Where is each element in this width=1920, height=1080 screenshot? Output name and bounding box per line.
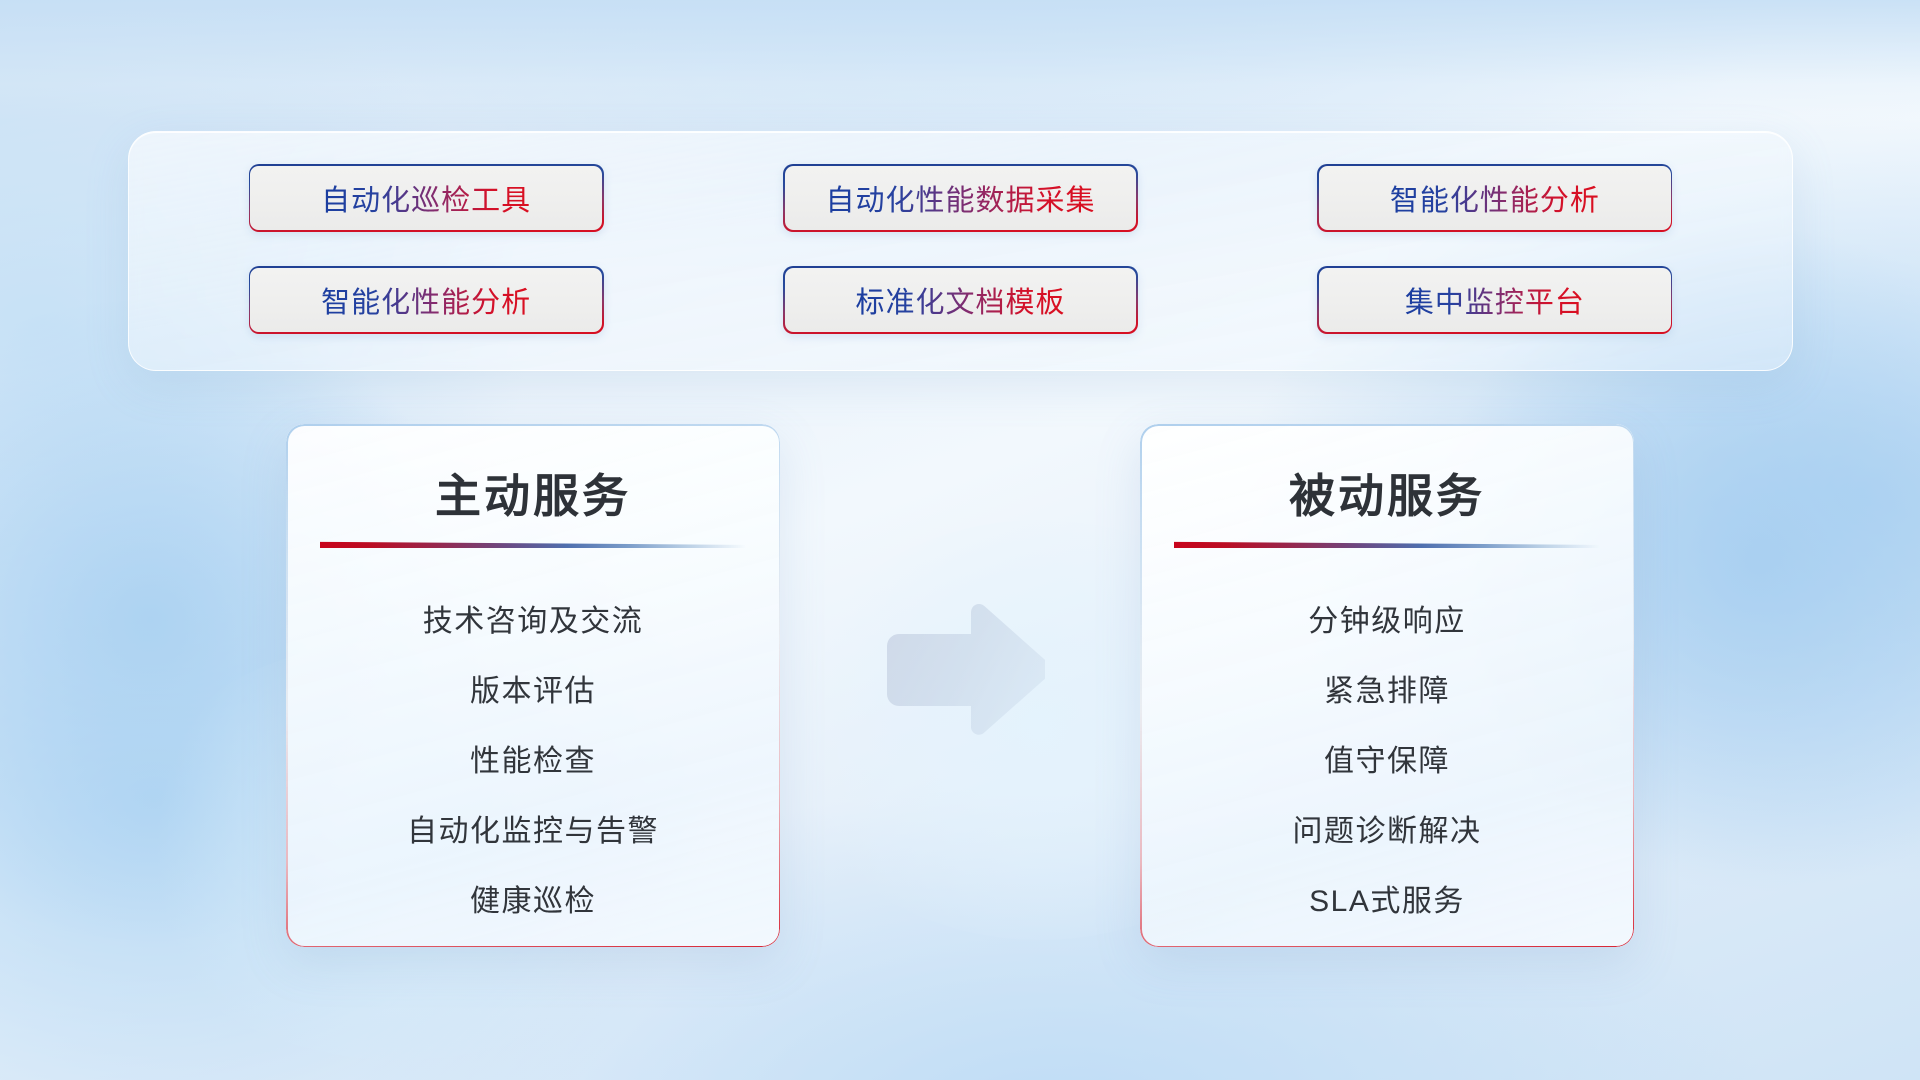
capability-tag-label: 自动化巡检工具 <box>321 177 531 219</box>
list-item: 健康巡检 <box>286 867 780 937</box>
list-item: 分钟级响应 <box>1140 587 1634 657</box>
service-card-proactive: 主动服务 技术咨询及交流 版本评估 性能检查 自动化监控与告警 健康巡检 <box>286 424 780 947</box>
card-title: 主动服务 <box>286 460 780 526</box>
card-item-list: 技术咨询及交流 版本评估 性能检查 自动化监控与告警 健康巡检 <box>286 587 780 937</box>
capability-tag-label: 智能化性能分析 <box>321 279 531 321</box>
capability-tag-inner: 标准化文档模板 <box>785 268 1137 333</box>
capability-tag-inner: 集中监控平台 <box>1319 268 1671 333</box>
list-item: 自动化监控与告警 <box>286 797 780 867</box>
card-divider <box>1174 541 1600 548</box>
capability-tag-label: 自动化性能数据采集 <box>825 177 1095 219</box>
capability-tag-inner: 自动化巡检工具 <box>250 166 602 231</box>
card-divider <box>320 541 746 548</box>
capability-tag-inner: 智能化性能分析 <box>250 268 602 333</box>
capability-tag[interactable]: 自动化性能数据采集 <box>783 164 1138 232</box>
card-title: 被动服务 <box>1140 460 1634 526</box>
service-card-reactive: 被动服务 分钟级响应 紧急排障 值守保障 问题诊断解决 SLA式服务 <box>1140 424 1634 947</box>
arrow-right-icon <box>873 604 1045 736</box>
capability-tag-label: 标准化文档模板 <box>855 279 1065 321</box>
list-item: SLA式服务 <box>1140 867 1634 937</box>
capability-tag-inner: 智能化性能分析 <box>1319 166 1671 231</box>
capability-tag[interactable]: 自动化巡检工具 <box>249 164 604 232</box>
list-item: 紧急排障 <box>1140 657 1634 727</box>
capability-tag-label: 智能化性能分析 <box>1390 177 1600 219</box>
card-item-list: 分钟级响应 紧急排障 值守保障 问题诊断解决 SLA式服务 <box>1140 587 1634 937</box>
capability-panel: 自动化巡检工具 自动化性能数据采集 智能化性能分析 智能化性能分析 标准化文档模… <box>128 131 1793 371</box>
capability-tag[interactable]: 智能化性能分析 <box>1317 164 1672 232</box>
capability-tag-grid: 自动化巡检工具 自动化性能数据采集 智能化性能分析 智能化性能分析 标准化文档模… <box>129 132 1792 370</box>
list-item: 问题诊断解决 <box>1140 797 1634 867</box>
background-sheen <box>0 0 1920 120</box>
capability-tag[interactable]: 标准化文档模板 <box>783 266 1138 334</box>
capability-tag-inner: 自动化性能数据采集 <box>785 166 1137 231</box>
list-item: 版本评估 <box>286 657 780 727</box>
list-item: 技术咨询及交流 <box>286 587 780 657</box>
capability-tag[interactable]: 智能化性能分析 <box>249 266 604 334</box>
list-item: 性能检查 <box>286 727 780 797</box>
capability-tag[interactable]: 集中监控平台 <box>1317 266 1672 334</box>
list-item: 值守保障 <box>1140 727 1634 797</box>
capability-tag-label: 集中监控平台 <box>1405 279 1585 321</box>
